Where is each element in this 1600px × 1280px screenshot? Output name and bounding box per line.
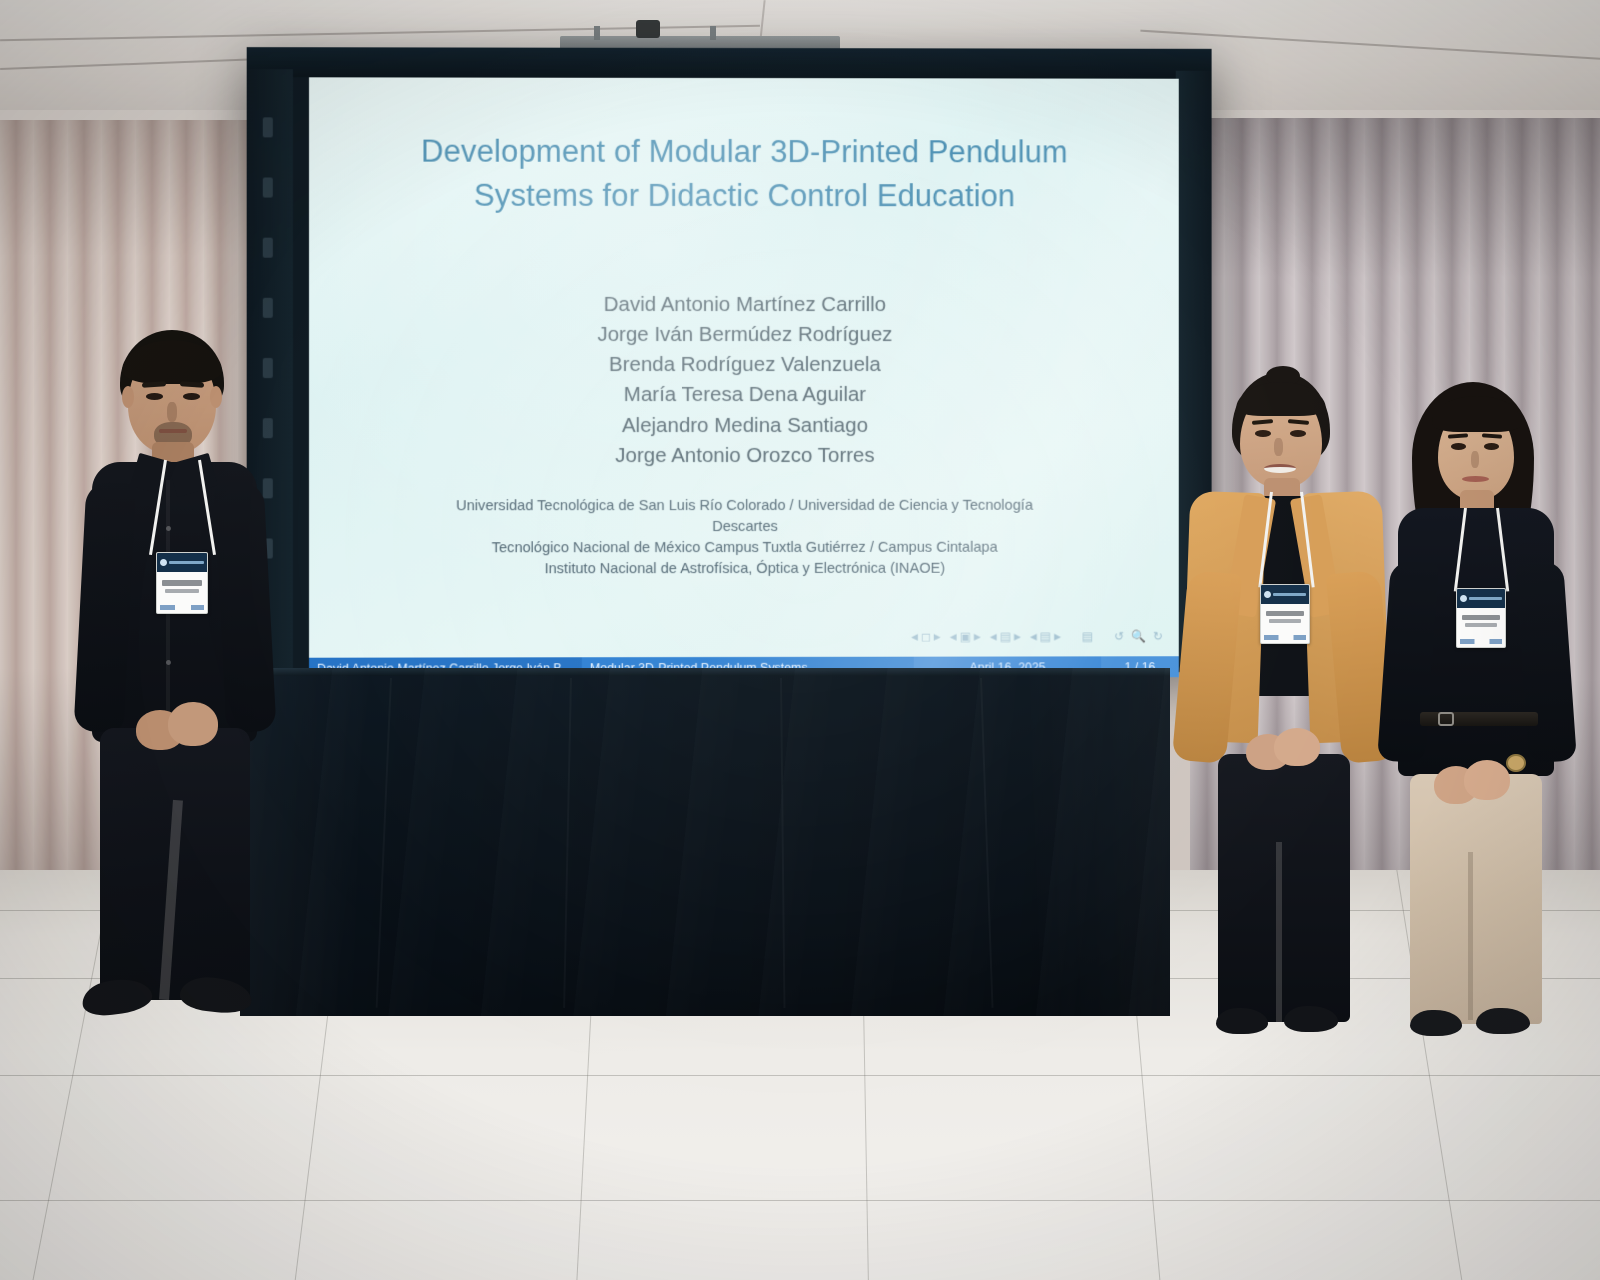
- screen-surface: Development of Modular 3D-Printed Pendul…: [309, 77, 1179, 678]
- mount-clip: [594, 26, 600, 40]
- mouth-smiling: [1264, 464, 1296, 473]
- shoe-right: [1284, 1006, 1338, 1032]
- nose: [167, 402, 177, 422]
- mount-clip: [710, 26, 716, 40]
- affiliation-line: Universidad Tecnológica de San Luis Río …: [329, 496, 1159, 518]
- shirt-button: [166, 660, 171, 665]
- slide-title-line-1: Development of Modular 3D-Printed Pendul…: [343, 129, 1145, 174]
- slide-title: Development of Modular 3D-Printed Pendul…: [309, 129, 1179, 218]
- badge-name-line: [162, 580, 202, 585]
- projection-screen: Development of Modular 3D-Printed Pendul…: [247, 47, 1212, 674]
- section-navigation-group[interactable]: ◀ ▤ ▶: [1030, 629, 1061, 643]
- author-name: Alejandro Medina Santiago: [309, 410, 1179, 440]
- frame-box-icon[interactable]: ▣: [960, 630, 971, 644]
- frame-notch: [263, 178, 273, 198]
- mouth: [1462, 476, 1489, 482]
- back-icon[interactable]: ↺: [1114, 629, 1124, 643]
- badge-footer: [1460, 639, 1502, 644]
- wristwatch: [1506, 754, 1526, 772]
- eye-left: [146, 393, 163, 400]
- leg-gap: [1468, 852, 1473, 1020]
- conference-badge: [1456, 588, 1506, 648]
- hand-right: [1274, 728, 1320, 766]
- badge-subtitle-line: [1465, 623, 1498, 627]
- frame-next-icon[interactable]: ▶: [974, 631, 981, 642]
- presenter-left: [68, 330, 308, 1050]
- slide-affiliation-list: Universidad Tecnológica de San Luis Río …: [309, 496, 1179, 580]
- ear-right: [210, 386, 222, 408]
- badge-name-line: [1266, 611, 1304, 616]
- floor-grout-line: [0, 1075, 1600, 1076]
- eye-left: [1451, 443, 1466, 450]
- badge-logo-icon: [1460, 595, 1467, 602]
- subsection-navigation-group[interactable]: ◀ ▤ ▶: [990, 630, 1021, 644]
- section-prev-icon[interactable]: ◀: [1030, 631, 1037, 642]
- frame-prev-icon[interactable]: ◀: [950, 631, 957, 642]
- hand-right: [1464, 760, 1510, 800]
- conference-badge: [156, 552, 208, 614]
- badge-brand-text: [169, 561, 204, 564]
- drape-fold: [376, 678, 392, 1008]
- badge-logo-icon: [1264, 591, 1271, 598]
- slide-next-icon[interactable]: ▶: [934, 631, 941, 642]
- slide-navigation-group[interactable]: ◀ ◻ ▶: [911, 630, 941, 644]
- shoe-left: [1410, 1010, 1462, 1036]
- slide-box-icon[interactable]: ◻: [921, 630, 931, 644]
- affiliation-line: Descartes: [329, 516, 1159, 538]
- frame-notch: [263, 117, 273, 137]
- slide-author-list: David Antonio Martínez Carrillo Jorge Iv…: [309, 290, 1179, 471]
- floor-grout-line: [0, 1200, 1600, 1201]
- badge-subtitle-line: [1269, 619, 1302, 623]
- document-navigation-group[interactable]: ▤: [1082, 629, 1093, 643]
- affiliation-line: Tecnológico Nacional de México Campus Tu…: [329, 537, 1159, 559]
- author-name: María Teresa Dena Aguilar: [309, 380, 1179, 410]
- author-name: Jorge Antonio Orozco Torres: [309, 440, 1179, 471]
- frame-notch: [263, 238, 273, 258]
- document-box-icon[interactable]: ▤: [1082, 629, 1093, 643]
- badge-name-line: [1462, 615, 1500, 620]
- beamer-navigation-symbols[interactable]: ◀ ◻ ▶ ◀ ▣ ▶ ◀ ▤ ▶ ◀: [911, 629, 1163, 643]
- frame-navigation-group[interactable]: ◀ ▣ ▶: [950, 630, 981, 644]
- eye-right: [1290, 430, 1306, 437]
- slide-prev-icon[interactable]: ◀: [911, 631, 918, 642]
- shirt-button: [166, 526, 171, 531]
- badge-brand-text: [1273, 593, 1306, 596]
- legs-beige-trousers: [1410, 774, 1542, 1024]
- affiliation-line: Instituto Nacional de Astrofísica, Óptic…: [329, 558, 1159, 580]
- history-navigation-group[interactable]: ↺ 🔍 ↻: [1114, 629, 1163, 643]
- mouth: [159, 429, 187, 433]
- hand-right: [168, 702, 218, 746]
- author-name: David Antonio Martínez Carrillo: [309, 290, 1179, 320]
- conference-badge: [1260, 584, 1310, 644]
- drape-fold: [980, 678, 994, 1008]
- drape-fold: [780, 678, 785, 1008]
- section-next-icon[interactable]: ▶: [1054, 631, 1061, 642]
- author-name: Brenda Rodríguez Valenzuela: [309, 350, 1179, 380]
- badge-header: [1261, 585, 1309, 604]
- table-drape: [240, 668, 1170, 1016]
- presenter-center-right: [1178, 372, 1398, 1042]
- shoe-right: [1476, 1008, 1530, 1034]
- legs-trousers: [1218, 754, 1350, 1022]
- badge-subtitle-line: [165, 589, 199, 593]
- subsection-next-icon[interactable]: ▶: [1014, 631, 1021, 642]
- author-name: Jorge Iván Bermúdez Rodríguez: [309, 320, 1179, 350]
- section-box-icon[interactable]: ▤: [1040, 629, 1051, 643]
- shoe-left: [1216, 1008, 1268, 1034]
- ear-left: [122, 386, 134, 408]
- nose: [1274, 438, 1283, 456]
- leg-gap: [1276, 842, 1282, 1022]
- badge-header: [1457, 589, 1505, 608]
- presenter-right: [1372, 382, 1582, 1042]
- belt-buckle: [1438, 712, 1454, 726]
- eye-right: [183, 393, 200, 400]
- badge-header: [157, 553, 207, 572]
- beamer-slide: Development of Modular 3D-Printed Pendul…: [309, 77, 1179, 678]
- badge-footer: [160, 605, 204, 610]
- drape-top-edge: [240, 668, 1170, 676]
- eye-right: [1484, 443, 1499, 450]
- badge-footer: [1264, 635, 1306, 640]
- badge-brand-text: [1469, 597, 1502, 600]
- badge-logo-icon: [160, 559, 167, 566]
- subsection-prev-icon[interactable]: ◀: [990, 631, 997, 642]
- conference-room-scene: Development of Modular 3D-Printed Pendul…: [0, 0, 1600, 1280]
- frame-notch: [263, 298, 273, 318]
- search-icon[interactable]: 🔍: [1131, 629, 1146, 643]
- eye-left: [1255, 430, 1271, 437]
- forward-icon[interactable]: ↻: [1153, 629, 1163, 643]
- screen-top-bar: [247, 47, 1212, 79]
- mount-knob: [636, 20, 660, 38]
- nose: [1471, 451, 1479, 468]
- drape-fold: [563, 678, 572, 1008]
- slide-title-line-2: Systems for Didactic Control Education: [343, 174, 1145, 219]
- subsection-box-icon[interactable]: ▤: [1000, 630, 1011, 644]
